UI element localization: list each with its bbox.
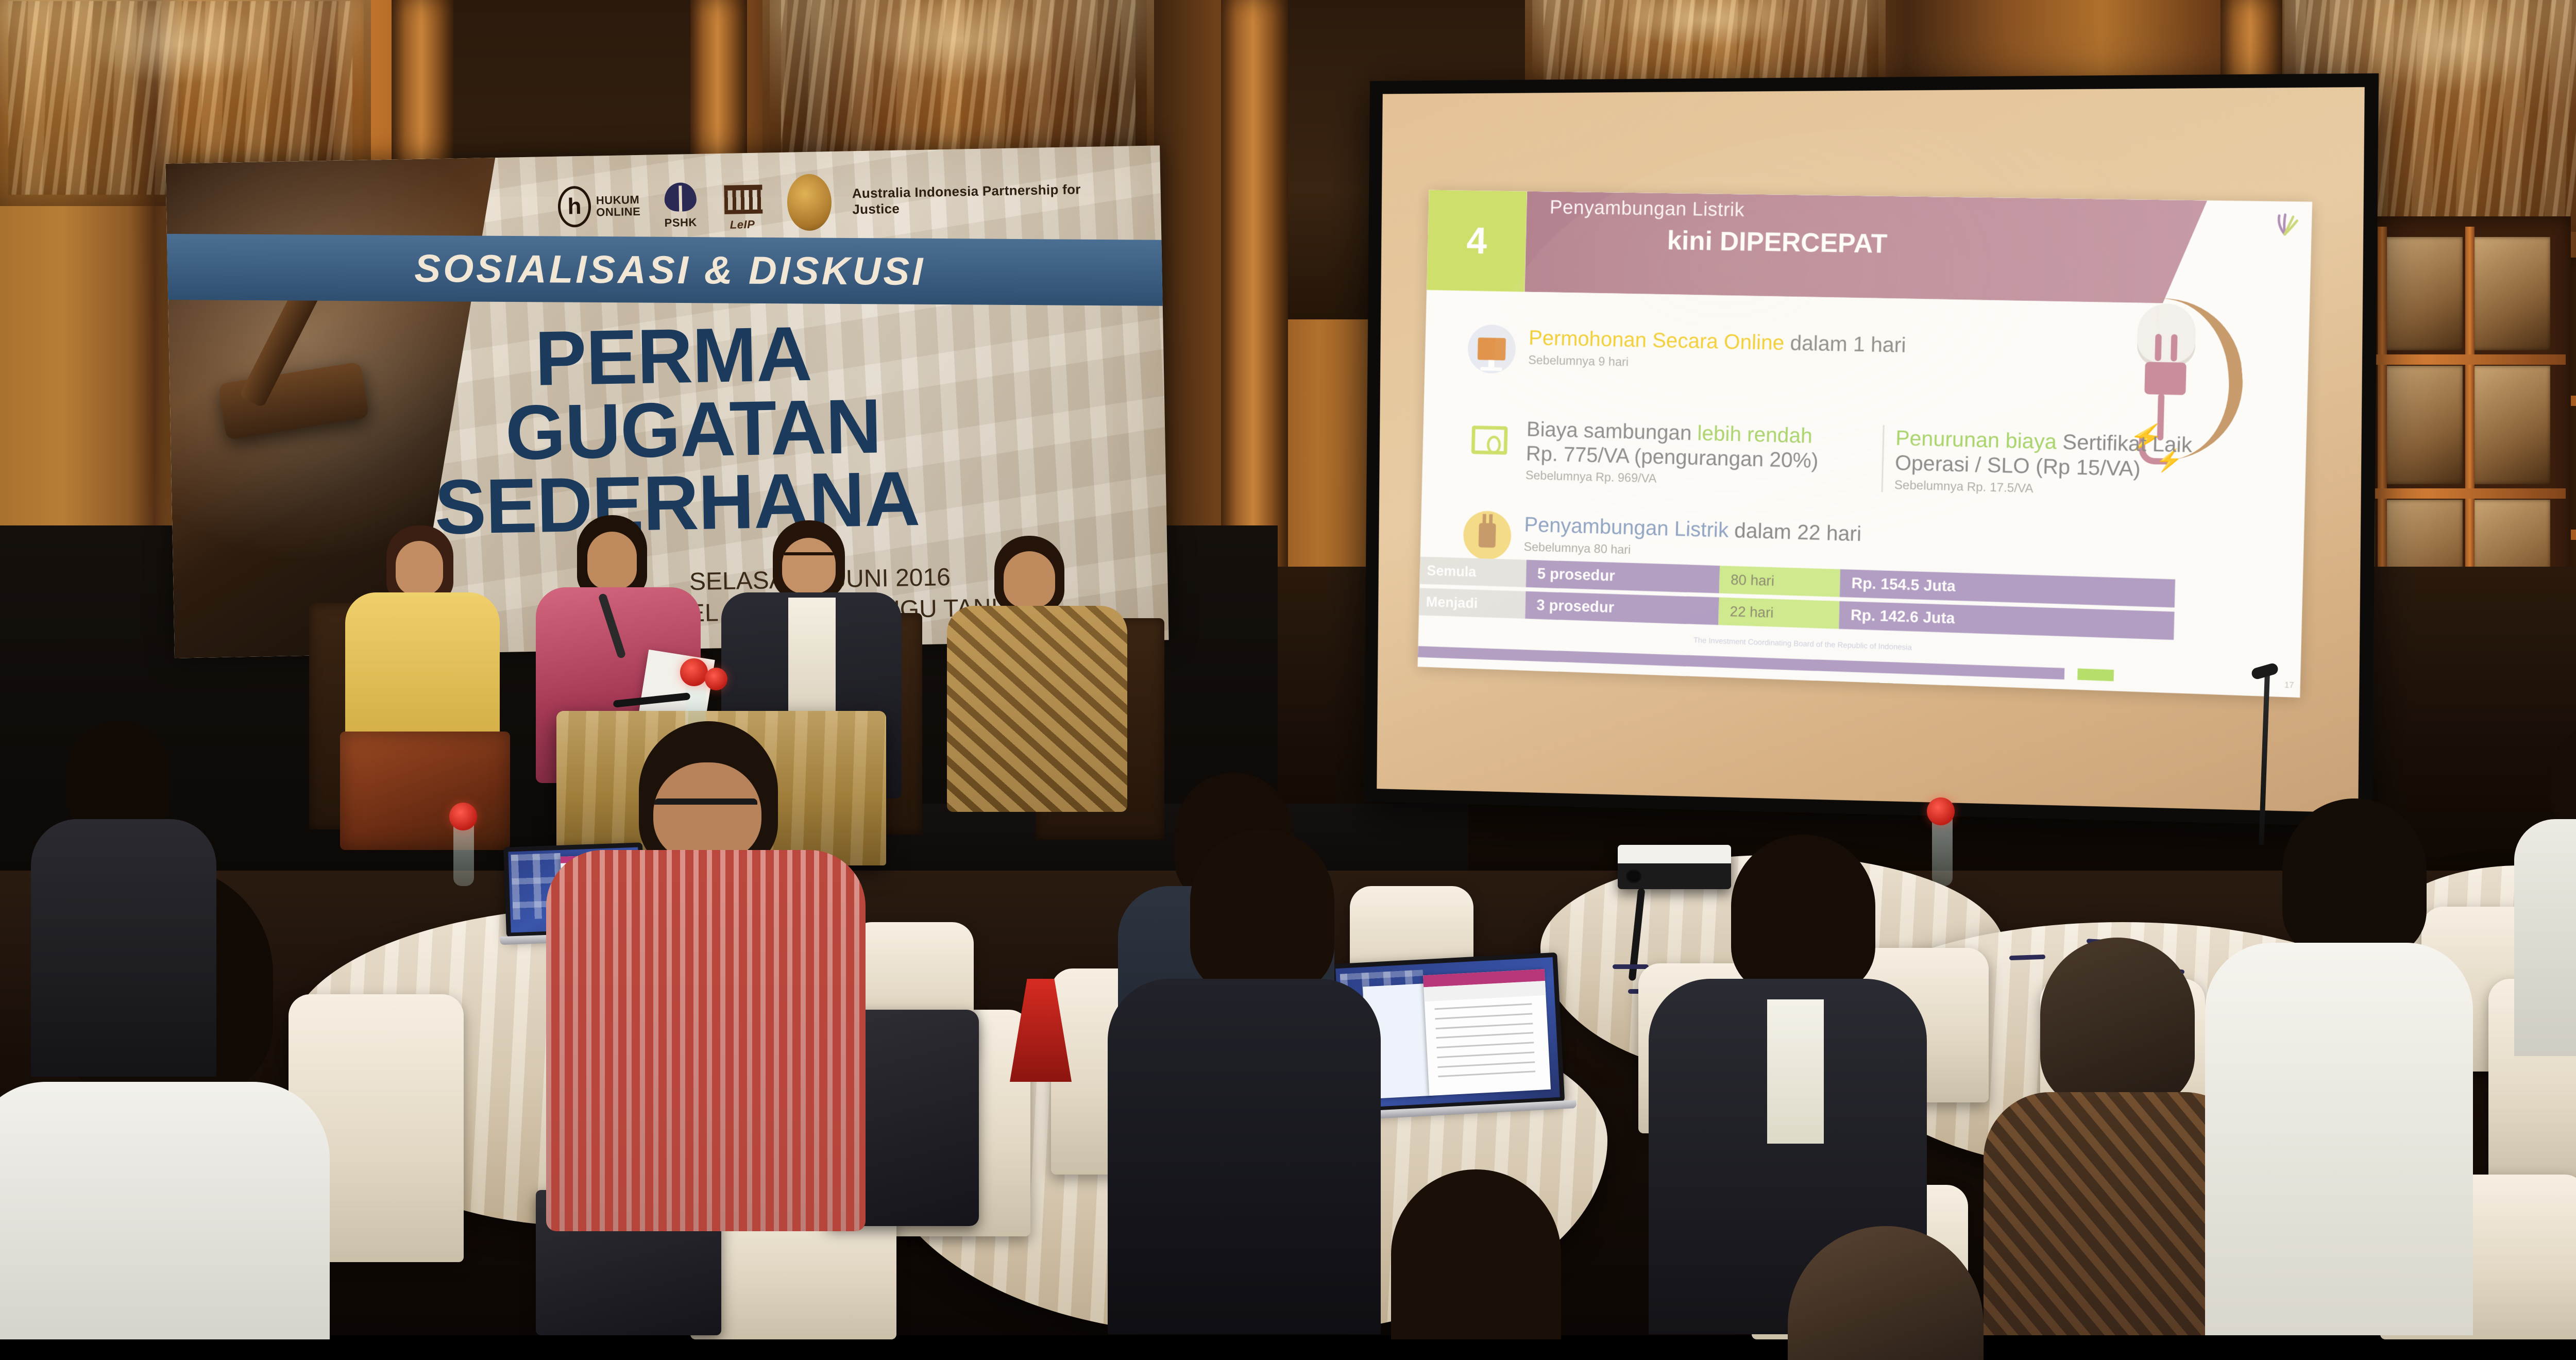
- bkpm-fan-logo-icon: [2269, 209, 2300, 239]
- hukumonline-logo: h HUKUM ONLINE: [557, 185, 641, 228]
- screen-surface: 4 Penyambungan Listrik kini DIPERCEPAT: [1377, 87, 2364, 813]
- aipj-label: Australia Indonesia Partnership for Just…: [852, 181, 1115, 217]
- comparison-table: Semula 5 prosedur 80 hari Rp. 154.5 Juta…: [1419, 556, 2175, 644]
- slide-number-box: 4: [1427, 190, 1527, 292]
- slide-footer-bar: [1418, 646, 2064, 679]
- sponsor-logo-strip: h HUKUM ONLINE PSHK LeIP Australia Indon…: [557, 166, 1115, 238]
- row-days: 80 hari: [1719, 566, 1840, 597]
- row-label: Menjadi: [1419, 588, 1526, 619]
- row-cost: Rp. 154.5 Juta: [1840, 569, 2175, 607]
- column-divider: [1881, 425, 1884, 492]
- audience-member-bottom-right: [1726, 1226, 2045, 1335]
- row1-rest: dalam 1 hari: [1784, 331, 1906, 357]
- audience-member-left-dark: [31, 721, 216, 1082]
- gold-seal-logo: [787, 174, 832, 231]
- audience-body: [31, 819, 216, 1077]
- row3-rest: Sertifikat Laik: [2056, 430, 2192, 457]
- audience-head: [1731, 835, 1875, 994]
- slide-subtitle: Penyambungan Listrik: [1549, 197, 2207, 228]
- slide-title-band: Penyambungan Listrik kini DIPERCEPAT: [1524, 191, 2207, 304]
- audience-head: [1190, 829, 1334, 994]
- audience-member-white-shirt-right: [2205, 798, 2473, 1335]
- pshk-logo: PSHK: [660, 181, 700, 229]
- leip-logo: LeIP: [720, 178, 767, 229]
- audience-head: [1391, 1169, 1561, 1339]
- audience-body: [2205, 943, 2473, 1335]
- row-cost: Rp. 142.6 Juta: [1839, 601, 2174, 639]
- panelist-4-body: [947, 606, 1127, 812]
- projection-screen: 4 Penyambungan Listrik kini DIPERCEPAT: [1364, 73, 2379, 827]
- banner-kicker-band: SOSIALISASI & DISKUSI: [165, 234, 1168, 306]
- banner-kicker-text: SOSIALISASI & DISKUSI: [414, 246, 925, 294]
- row4-highlight: Penyambungan Listrik: [1524, 513, 1729, 542]
- red-flower-icon: [705, 668, 727, 690]
- eyeglasses-icon: [784, 552, 834, 560]
- audience-body: [546, 850, 866, 1231]
- wood-pillar: [1221, 0, 1288, 608]
- monitor-icon: [1467, 325, 1516, 374]
- row-procedure: 3 prosedur: [1525, 591, 1719, 624]
- slide-page-number: 17: [2284, 681, 2294, 690]
- money-icon: [1465, 415, 1514, 465]
- red-flower-icon: [449, 803, 477, 830]
- slide-header: 4 Penyambungan Listrik kini DIPERCEPAT: [1427, 190, 2312, 306]
- slide-row-cost: Biaya sambungan lebih rendah Rp. 775/VA …: [1465, 415, 1866, 492]
- row2-highlight: lebih rendah: [1697, 421, 1812, 447]
- audience-head: [2282, 798, 2427, 958]
- audience-head: [1788, 1226, 1984, 1360]
- plug-icon: [1463, 511, 1512, 560]
- pshk-label: PSHK: [664, 216, 697, 229]
- gavel-head-icon: [218, 362, 369, 440]
- red-flower-icon: [680, 658, 708, 686]
- row-days: 22 hari: [1718, 597, 1839, 628]
- row3-highlight: Penurunan biaya: [1895, 426, 2057, 453]
- audience-member-far-right: [2514, 726, 2576, 1056]
- slide-row-slo: Penurunan biaya Sertifikat Laik Operasi …: [1881, 425, 2288, 503]
- slide-number: 4: [1466, 222, 1487, 260]
- audience-body: [0, 1082, 330, 1339]
- pshk-mark-icon: [664, 182, 697, 212]
- hukumonline-mark-icon: h: [557, 186, 591, 228]
- row1-highlight: Permohonan Secara Online: [1529, 326, 1785, 354]
- leip-label: LeIP: [730, 218, 755, 231]
- slide-footer-accent: [2077, 669, 2114, 682]
- banner-title-line1: PERMA: [534, 311, 1159, 396]
- audience-body: [2514, 819, 2576, 1056]
- row2-lead: Biaya sambungan: [1526, 417, 1698, 444]
- hukumonline-label-line1: HUKUM: [596, 194, 641, 207]
- banner-title: PERMA GUGATAN SEDERHANA: [498, 311, 1162, 543]
- row-procedure: 5 prosedur: [1526, 559, 1720, 593]
- red-flower-icon: [1927, 797, 1955, 825]
- row-label: Semula: [1419, 556, 1527, 587]
- slide-caption: The Investment Coordinating Board of the…: [1693, 636, 1911, 652]
- audience-head: [67, 721, 170, 835]
- audience-member-red-shirt: [546, 721, 866, 1236]
- slide-headline: kini DIPERCEPAT: [1667, 225, 2206, 264]
- audience-head: [2040, 938, 2195, 1108]
- eyeglasses-icon: [654, 798, 757, 810]
- audience-member-bottom-center: [1309, 1169, 1628, 1335]
- hukumonline-label-line2: ONLINE: [596, 206, 641, 218]
- audience-head: [2550, 726, 2576, 829]
- presentation-slide: 4 Penyambungan Listrik kini DIPERCEPAT: [1417, 190, 2312, 698]
- slide-row-online: Permohonan Secara Online dalam 1 hari Se…: [1467, 325, 2010, 385]
- leip-temple-icon: [724, 185, 762, 214]
- row4-rest: dalam 22 hari: [1728, 518, 1861, 546]
